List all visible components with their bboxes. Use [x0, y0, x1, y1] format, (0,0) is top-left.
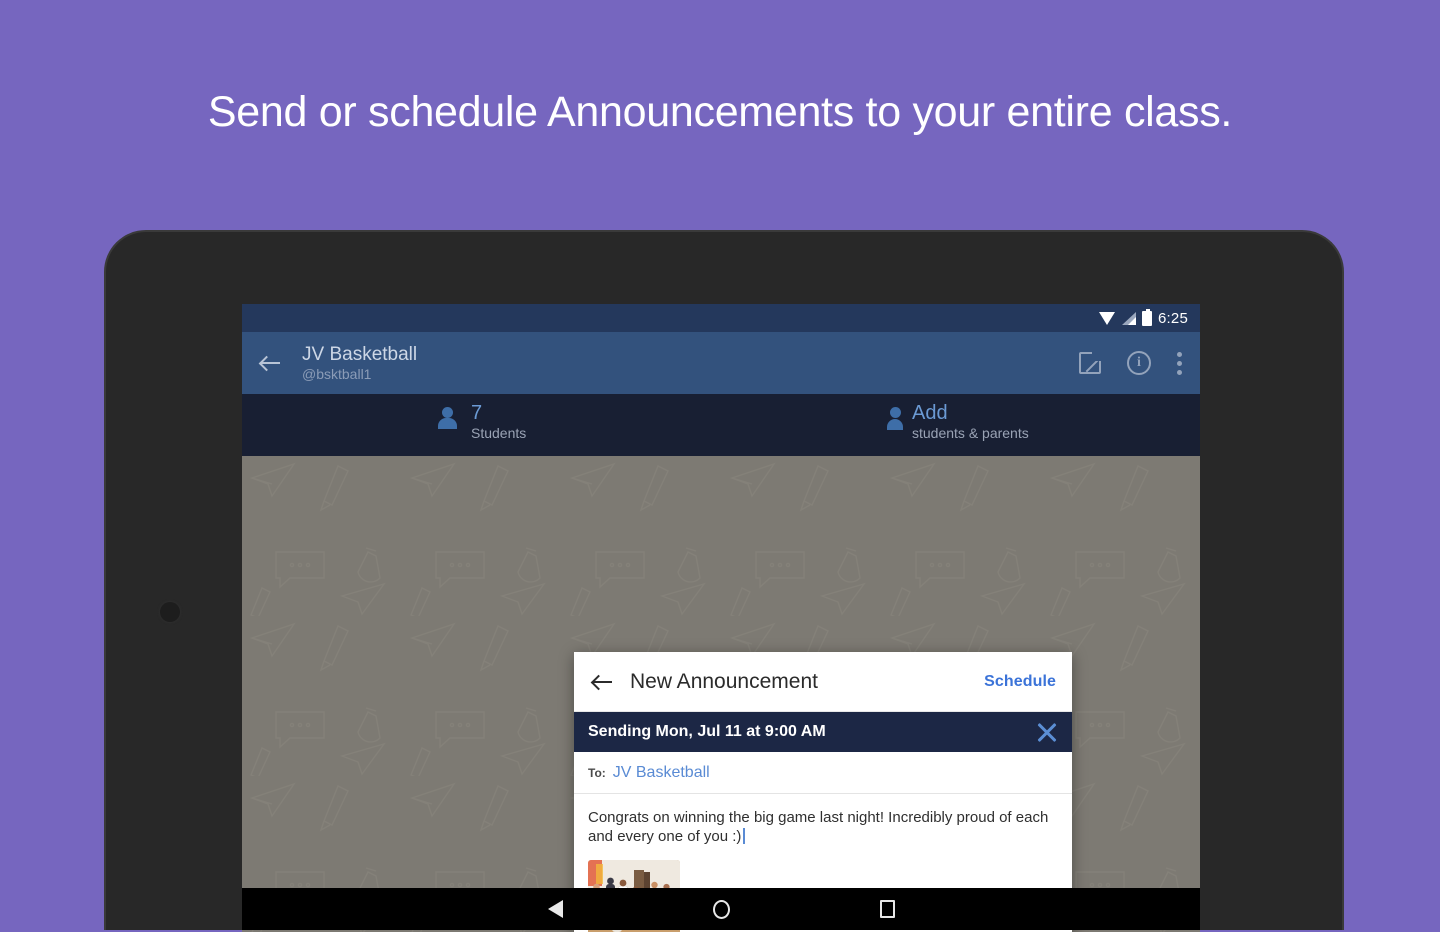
recipient-label: To: [588, 766, 606, 780]
overflow-menu-icon[interactable] [1177, 352, 1182, 375]
battery-icon [1142, 311, 1152, 326]
status-bar: 6:25 [242, 304, 1200, 332]
compose-icon[interactable] [1079, 352, 1101, 374]
back-triangle-icon[interactable] [548, 900, 563, 918]
stat-students-label: Students [471, 424, 526, 442]
front-camera-icon [160, 602, 180, 622]
class-handle: @bsktball1 [302, 366, 417, 383]
info-icon[interactable]: i [1127, 351, 1151, 375]
schedule-button[interactable]: Schedule [984, 673, 1056, 691]
stat-add-value: Add [912, 403, 1029, 424]
app-bar-titles: JV Basketball @bsktball1 [302, 344, 417, 383]
dialog-header: New Announcement Schedule [574, 652, 1072, 712]
stat-students[interactable]: 7 Students [434, 403, 526, 442]
message-text: Congrats on winning the big game last ni… [588, 809, 1048, 845]
android-nav-bar [242, 888, 1200, 930]
tablet-device: 6:25 JV Basketball @bsktball1 i 7 [104, 230, 1344, 930]
add-person-icon [887, 407, 903, 429]
signal-icon [1122, 312, 1136, 325]
text-cursor [743, 828, 745, 844]
status-bar-clock: 6:25 [1158, 310, 1188, 327]
dialog-back-icon[interactable] [590, 669, 616, 695]
recents-square-icon[interactable] [880, 900, 895, 918]
message-input[interactable]: Congrats on winning the big game last ni… [588, 808, 1058, 846]
home-circle-icon[interactable] [713, 900, 730, 919]
schedule-banner-text: Sending Mon, Jul 11 at 9:00 AM [588, 723, 826, 741]
stats-band: 7 Students Add students & parents [242, 394, 1200, 456]
stat-students-value: 7 [471, 403, 526, 424]
app-bar: JV Basketball @bsktball1 i [242, 332, 1200, 394]
stat-add-label: students & parents [912, 424, 1029, 442]
close-icon[interactable] [1036, 721, 1058, 743]
device-screen: 6:25 JV Basketball @bsktball1 i 7 [242, 304, 1200, 932]
dialog-title: New Announcement [630, 670, 818, 694]
app-bar-actions: i [1079, 351, 1186, 375]
recipient-value[interactable]: JV Basketball [613, 764, 710, 782]
promo-headline: Send or schedule Announcements to your e… [0, 88, 1440, 137]
recipient-row[interactable]: To: JV Basketball [574, 752, 1072, 794]
schedule-banner: Sending Mon, Jul 11 at 9:00 AM [574, 712, 1072, 752]
page-title: JV Basketball [302, 344, 417, 366]
wifi-icon [1099, 312, 1116, 325]
back-arrow-icon[interactable] [256, 348, 286, 378]
people-icon [434, 407, 462, 429]
stat-add-people[interactable]: Add students & parents [887, 403, 1029, 442]
